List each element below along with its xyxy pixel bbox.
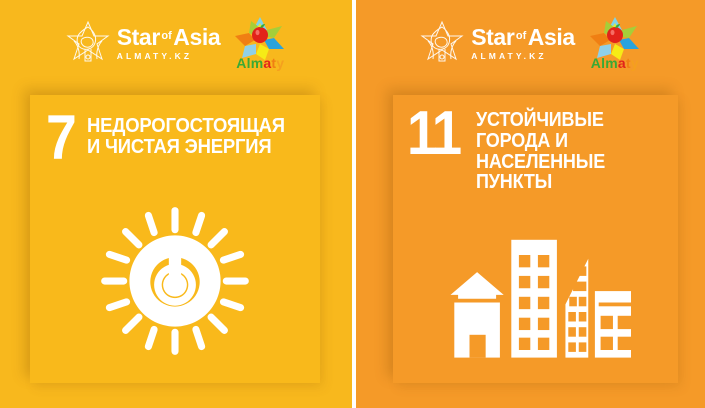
almaty-logo-right: Almaty [589,16,641,70]
six-pointed-star-outline-icon [66,19,110,67]
almaty-apple-star-icon [589,16,641,60]
sdg-title: УСТОЙЧИВЫЕ ГОРОДА И НАСЕЛЕННЫЕ ПУНКТЫ [476,110,651,193]
wordmark-subtitle: ALMATY.KZ [117,52,192,61]
sdg-number: 11 [407,109,459,160]
sdg-card-11: 11 УСТОЙЧИВЫЕ ГОРОДА И НАСЕЛЕННЫЕ ПУНКТЫ [393,95,678,383]
sdg-number: 7 [46,113,75,165]
panel-sdg-7: Star of Asia ALMATY.KZ [0,0,352,408]
wordmark-star: Star [471,26,514,49]
header-left: Star of Asia ALMATY.KZ [0,0,352,86]
star-of-asia-wordmark-right: Star of Asia ALMATY.KZ [471,26,575,61]
panel-sdg-11: Star of Asia ALMATY.KZ [356,0,705,408]
sun-power-button-icon [30,205,320,357]
star-of-asia-logo-right: Star of Asia ALMATY.KZ [420,19,575,67]
wordmark-of: of [161,31,171,42]
almaty-wordmark-right: Almaty [591,56,639,70]
sdg-card-7: 7 НЕДОРОГОСТОЯЩАЯ И ЧИСТАЯ ЭНЕРГИЯ [30,95,320,383]
wordmark-star: Star [117,26,160,49]
panel-divider [352,0,356,408]
sdg-card-7-header: 7 НЕДОРОГОСТОЯЩАЯ И ЧИСТАЯ ЭНЕРГИЯ [30,95,320,165]
poster-stage: Star of Asia ALMATY.KZ [0,0,705,408]
six-pointed-star-outline-icon [420,19,464,67]
sdg-card-11-header: 11 УСТОЙЧИВЫЕ ГОРОДА И НАСЕЛЕННЫЕ ПУНКТЫ [393,95,678,193]
wordmark-subtitle: ALMATY.KZ [471,52,546,61]
almaty-apple-star-icon [234,16,286,60]
wordmark-asia: Asia [528,26,575,49]
sdg-title: НЕДОРОГОСТОЯЩАЯ И ЧИСТАЯ ЭНЕРГИЯ [87,115,285,158]
star-of-asia-logo-left: Star of Asia ALMATY.KZ [66,19,221,67]
header-right: Star of Asia ALMATY.KZ [356,0,705,86]
wordmark-asia: Asia [173,26,220,49]
wordmark-of: of [516,31,526,42]
almaty-logo-left: Almaty [234,16,286,70]
star-of-asia-wordmark-left: Star of Asia ALMATY.KZ [117,26,221,61]
city-buildings-icon [393,236,678,369]
almaty-wordmark-left: Almaty [236,56,284,70]
